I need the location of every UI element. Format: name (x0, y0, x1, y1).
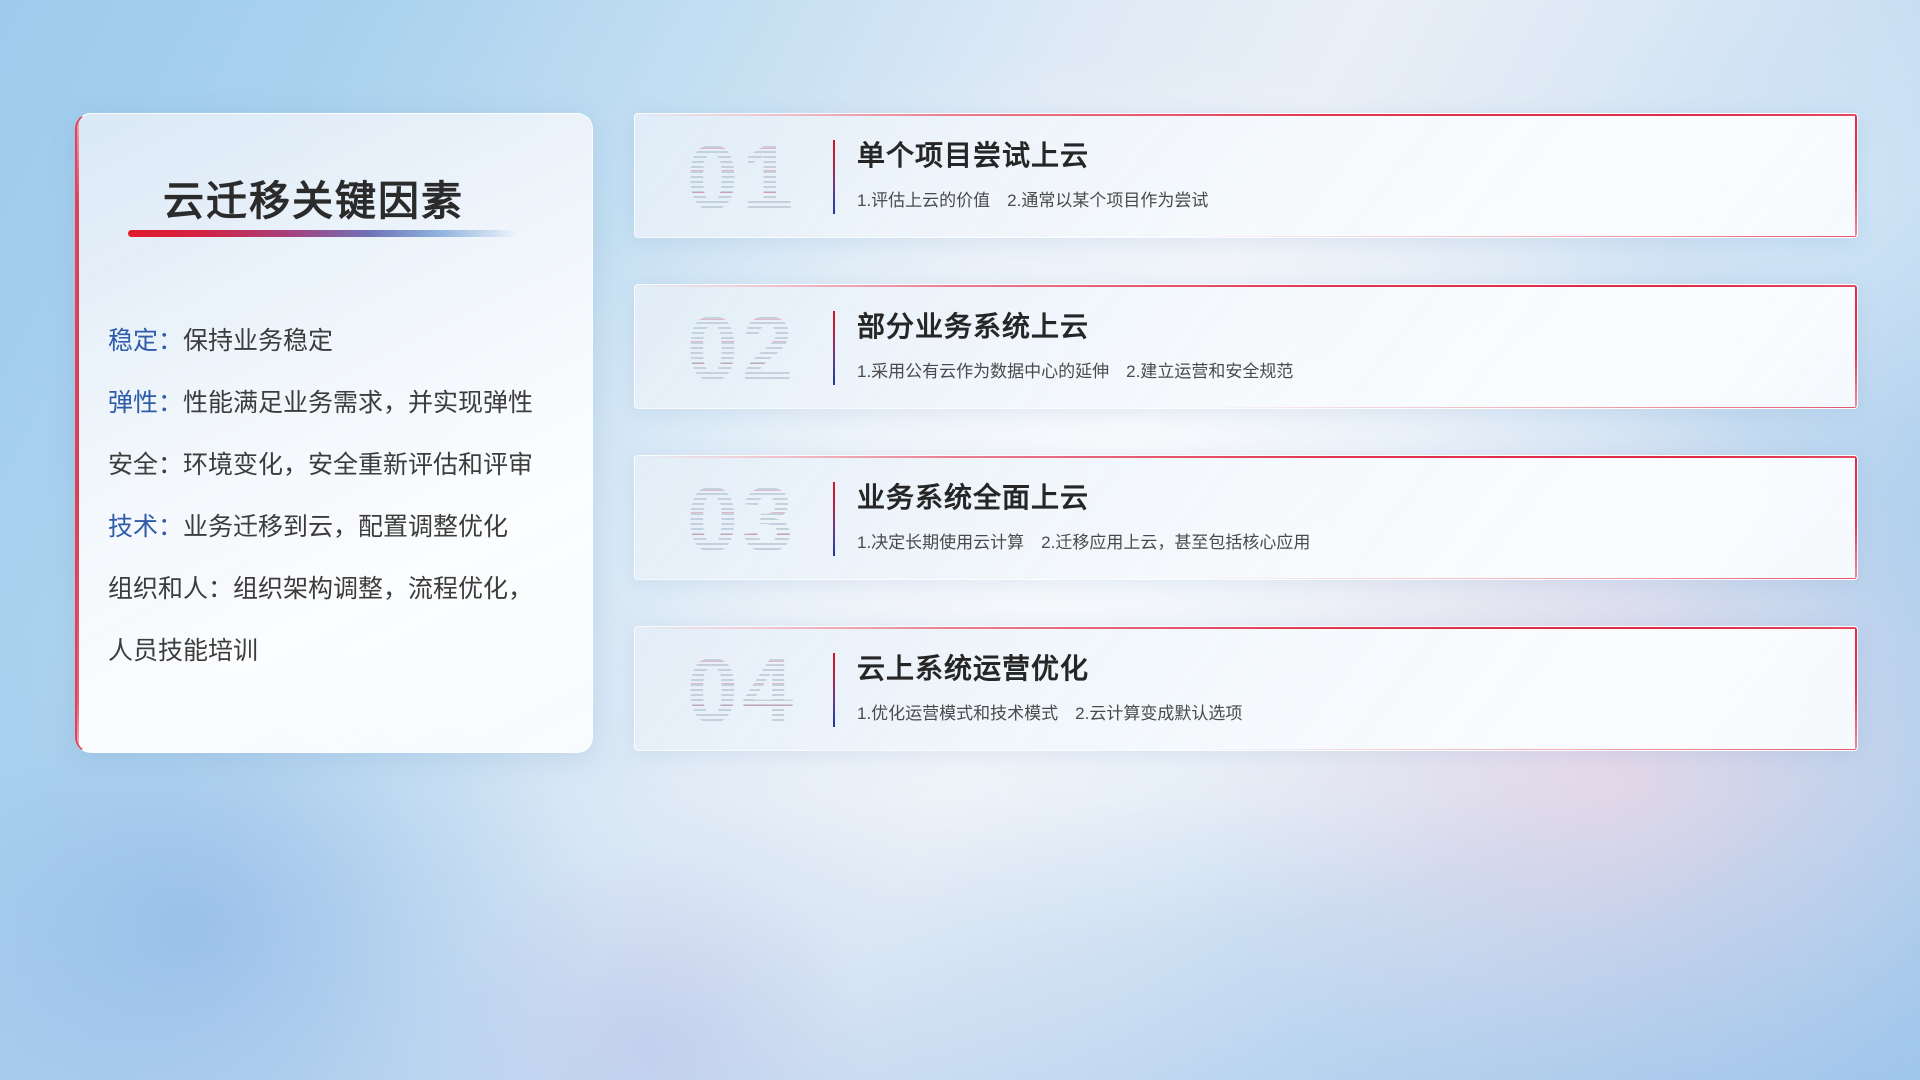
card-right-accent (1855, 627, 1857, 750)
card-title: 单个项目尝试上云 (857, 136, 1827, 176)
slide-stage: 云迁移关键因素 稳定：保持业务稳定 弹性：性能满足业务需求，并实现弹性 安全：环… (0, 0, 1920, 1080)
list-item-text: 性能满足业务需求，并实现弹性 (183, 389, 533, 417)
list-item-label: 稳定： (108, 327, 183, 355)
stage-card[interactable]: 03 03 业务系统全面上云 1.决定长期使用云计算 2.迁移应用上云，甚至包括… (634, 455, 1858, 580)
card-top-accent (635, 114, 1857, 116)
list-item-text: 人员技能培训 (108, 637, 258, 665)
list-item: 技术：业务迁移到云，配置调整优化 (108, 496, 574, 558)
card-bottom-accent (1197, 236, 1857, 237)
card-top-accent (635, 285, 1857, 287)
card-title: 部分业务系统上云 (857, 307, 1827, 347)
card-bottom-accent (1197, 578, 1857, 579)
list-item: 安全：环境变化，安全重新评估和评审 (108, 434, 574, 496)
card-bottom-accent (1197, 407, 1857, 408)
list-item-label: 安全： (108, 451, 183, 479)
card-top-accent (635, 627, 1857, 629)
list-item-text: 业务迁移到云，配置调整优化 (183, 513, 508, 541)
page-title: 云迁移关键因素 (163, 167, 464, 227)
stage-cards-list: 01 01 单个项目尝试上云 1.评估上云的价值 2.通常以某个项目作为尝试 0… (634, 113, 1858, 797)
card-number: 01 (657, 126, 827, 230)
list-item-label: 技术： (108, 513, 183, 541)
list-item: 人员技能培训 (108, 620, 574, 682)
card-number: 04 (657, 639, 827, 743)
card-right-accent (1855, 114, 1857, 237)
card-number: 03 (657, 468, 827, 572)
stage-card[interactable]: 02 02 部分业务系统上云 1.采用公有云作为数据中心的延伸 2.建立运营和安… (634, 284, 1858, 409)
list-item-label: 弹性： (108, 389, 183, 417)
list-item-text: 保持业务稳定 (183, 327, 333, 355)
card-number: 02 (657, 297, 827, 401)
stage-card[interactable]: 04 04 云上系统运营优化 1.优化运营模式和技术模式 2.云计算变成默认选项 (634, 626, 1858, 751)
card-bottom-accent (1197, 749, 1857, 750)
card-title: 业务系统全面上云 (857, 478, 1827, 518)
card-subtitle: 1.采用公有云作为数据中心的延伸 2.建立运营和安全规范 (857, 360, 1827, 384)
card-divider-bar (833, 653, 835, 727)
key-factors-panel: 云迁移关键因素 稳定：保持业务稳定 弹性：性能满足业务需求，并实现弹性 安全：环… (75, 113, 593, 753)
card-body: 单个项目尝试上云 1.评估上云的价值 2.通常以某个项目作为尝试 (857, 136, 1827, 213)
list-item-text: 组织架构调整，流程优化， (233, 575, 533, 603)
card-top-accent (635, 456, 1857, 458)
card-right-accent (1855, 285, 1857, 408)
card-body: 云上系统运营优化 1.优化运营模式和技术模式 2.云计算变成默认选项 (857, 649, 1827, 726)
card-divider-bar (833, 311, 835, 385)
card-title: 云上系统运营优化 (857, 649, 1827, 689)
card-body: 业务系统全面上云 1.决定长期使用云计算 2.迁移应用上云，甚至包括核心应用 (857, 478, 1827, 555)
list-item: 弹性：性能满足业务需求，并实现弹性 (108, 372, 574, 434)
list-item-text: 环境变化，安全重新评估和评审 (183, 451, 533, 479)
card-body: 部分业务系统上云 1.采用公有云作为数据中心的延伸 2.建立运营和安全规范 (857, 307, 1827, 384)
card-subtitle: 1.优化运营模式和技术模式 2.云计算变成默认选项 (857, 702, 1827, 726)
list-item: 组织和人：组织架构调整，流程优化， (108, 558, 574, 620)
list-item: 稳定：保持业务稳定 (108, 310, 574, 372)
card-right-accent (1855, 456, 1857, 579)
title-underline-rule (128, 230, 518, 237)
key-factors-list: 稳定：保持业务稳定 弹性：性能满足业务需求，并实现弹性 安全：环境变化，安全重新… (108, 310, 574, 682)
card-subtitle: 1.评估上云的价值 2.通常以某个项目作为尝试 (857, 189, 1827, 213)
card-divider-bar (833, 140, 835, 214)
card-divider-bar (833, 482, 835, 556)
stage-card[interactable]: 01 01 单个项目尝试上云 1.评估上云的价值 2.通常以某个项目作为尝试 (634, 113, 1858, 238)
list-item-label: 组织和人： (108, 575, 233, 603)
card-subtitle: 1.决定长期使用云计算 2.迁移应用上云，甚至包括核心应用 (857, 531, 1827, 555)
